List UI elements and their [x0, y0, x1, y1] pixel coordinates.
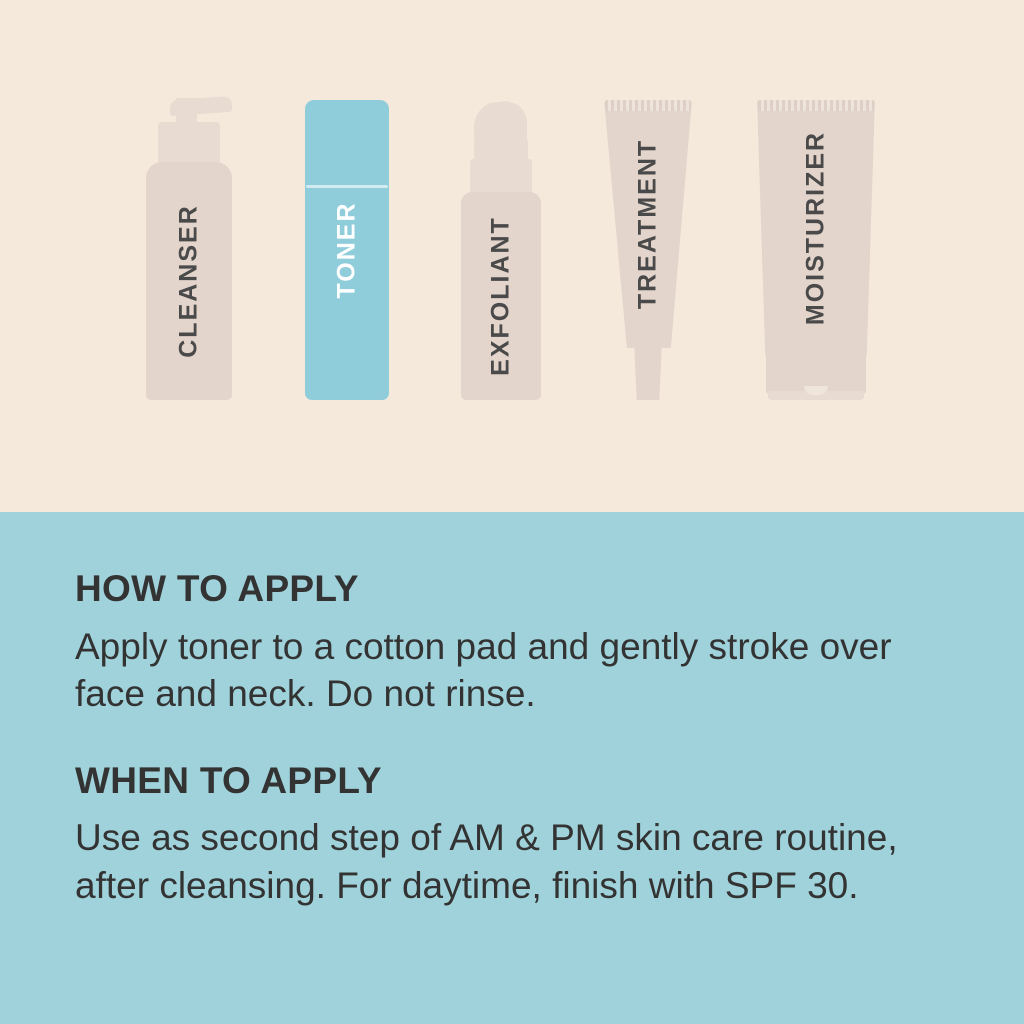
- body-when-to-apply: Use as second step of AM & PM skin care …: [75, 814, 954, 909]
- tube-crimp-seal: [758, 100, 874, 111]
- tube-crimp-seal: [605, 100, 691, 111]
- cleanser-bottle-body: CLEANSER: [146, 162, 232, 400]
- product-treatment: TREATMENT: [604, 100, 692, 400]
- heading-how-to-apply: HOW TO APPLY: [75, 570, 954, 609]
- skincare-routine-infographic: CLEANSER TONER EXFOLIANT: [0, 0, 1024, 1024]
- product-label-exfoliant: EXFOLIANT: [489, 216, 514, 376]
- info-block-how-to-apply: HOW TO APPLY Apply toner to a cotton pad…: [75, 570, 954, 718]
- toner-bottle-body: TONER: [305, 100, 389, 400]
- instructions-panel: HOW TO APPLY Apply toner to a cotton pad…: [0, 512, 1024, 1024]
- info-block-when-to-apply: WHEN TO APPLY Use as second step of AM &…: [75, 762, 954, 910]
- treatment-tube-cap: [633, 345, 663, 400]
- airless-pump-upper-ring: [474, 139, 528, 161]
- product-cleanser: CLEANSER: [146, 100, 232, 400]
- moisturizer-tube-body: MOISTURIZER: [757, 100, 875, 356]
- toner-cap-seam: [306, 185, 388, 188]
- pump-stem-icon: [176, 98, 197, 124]
- treatment-tube-body: TREATMENT: [604, 100, 692, 348]
- product-row: CLEANSER TONER EXFOLIANT: [0, 0, 1024, 512]
- airless-pump-lower-ring: [470, 159, 532, 194]
- product-label-toner: TONER: [335, 201, 360, 298]
- product-label-moisturizer: MOISTURIZER: [804, 131, 829, 325]
- body-how-to-apply: Apply toner to a cotton pad and gently s…: [75, 623, 954, 718]
- product-exfoliant: EXFOLIANT: [461, 103, 541, 400]
- product-label-treatment: TREATMENT: [636, 139, 661, 309]
- airless-pump-dome-icon: [474, 101, 527, 141]
- product-toner: TONER: [305, 100, 389, 400]
- product-illustration-panel: CLEANSER TONER EXFOLIANT: [0, 0, 1024, 512]
- exfoliant-bottle-body: EXFOLIANT: [461, 192, 541, 400]
- product-moisturizer: MOISTURIZER: [757, 100, 875, 400]
- pump-collar-icon: [158, 122, 220, 164]
- product-label-cleanser: CLEANSER: [177, 204, 202, 358]
- heading-when-to-apply: WHEN TO APPLY: [75, 762, 954, 801]
